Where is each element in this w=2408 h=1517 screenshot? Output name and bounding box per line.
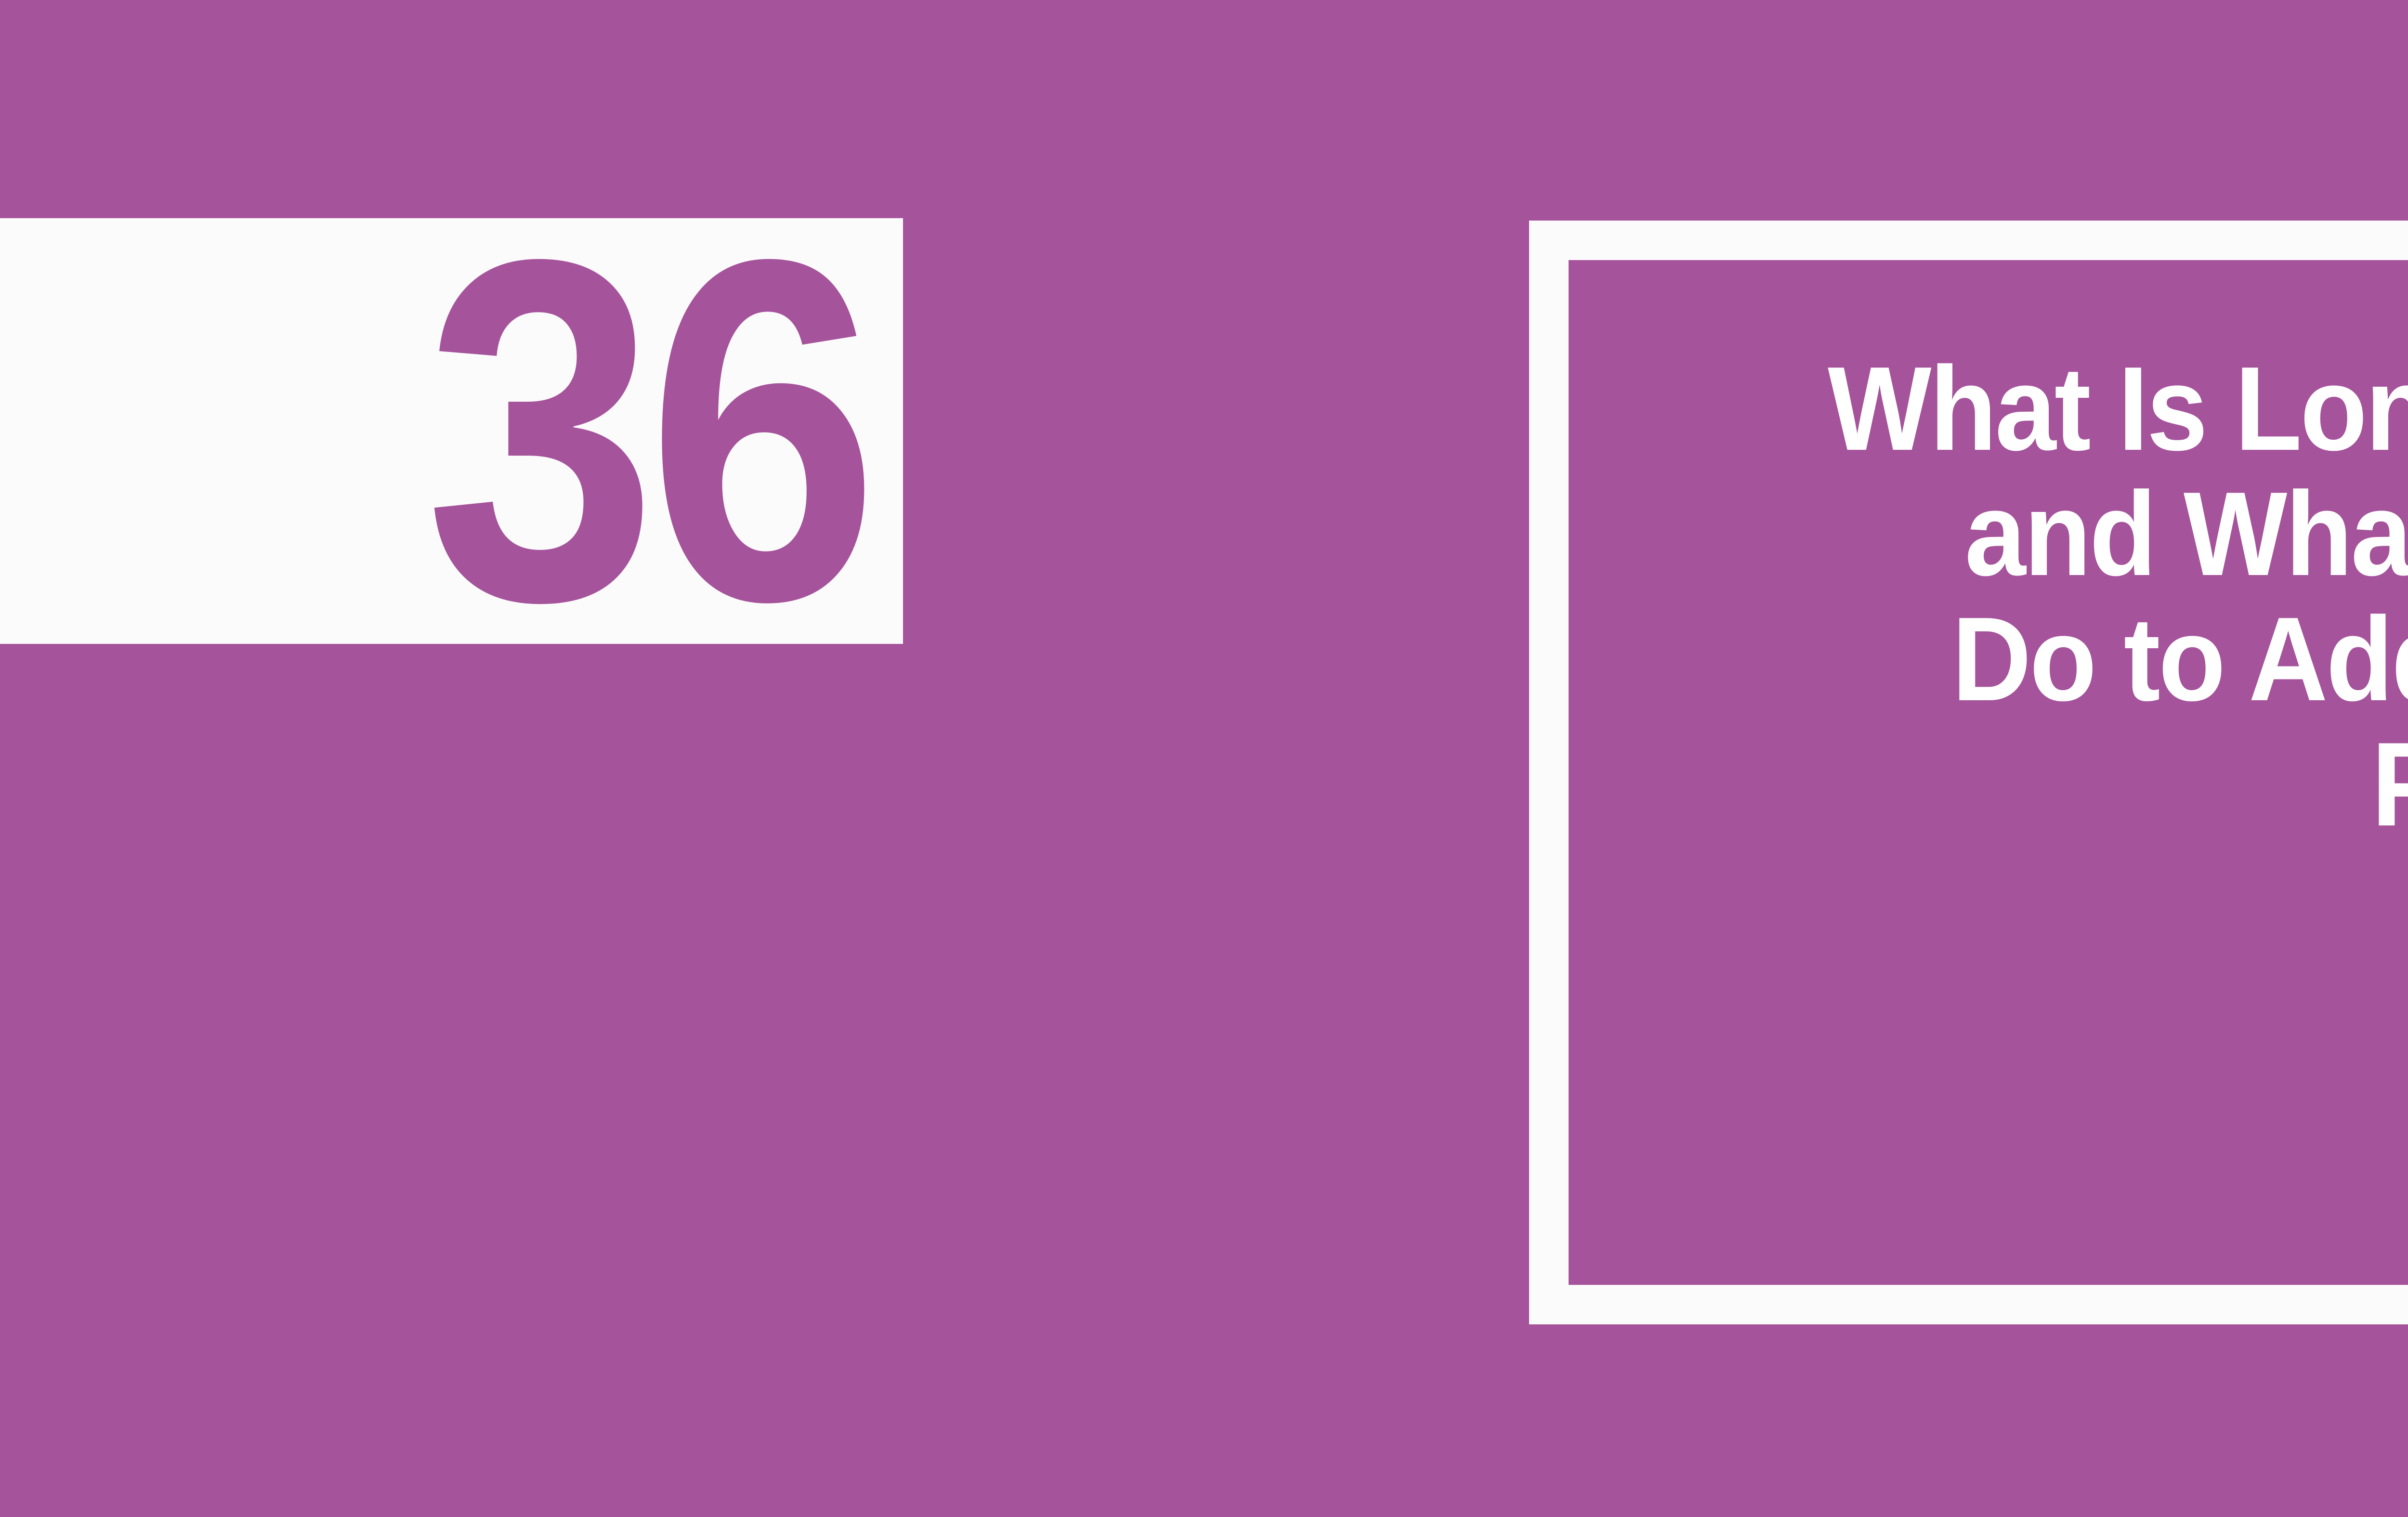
chapter-title: What Is Long COVID and What Can We Do to… [1672,346,2408,847]
title-frame: What Is Long COVID and What Can We Do to… [1529,221,2408,1324]
chapter-title-line-2: and What Can We [1672,471,2408,596]
chapter-title-line-1: What Is Long COVID [1672,346,2408,471]
chapter-divider-slide: 36 What Is Long COVID and What Can We Do… [0,0,2408,1517]
chapter-number-plate: 36 [0,218,903,644]
chapter-title-line-4: Problem? [1672,721,2408,847]
chapter-title-line-3: Do to Address the [1672,596,2408,721]
title-frame-inner: What Is Long COVID and What Can We Do to… [1569,260,2408,1285]
chapter-number: 36 [425,241,868,621]
